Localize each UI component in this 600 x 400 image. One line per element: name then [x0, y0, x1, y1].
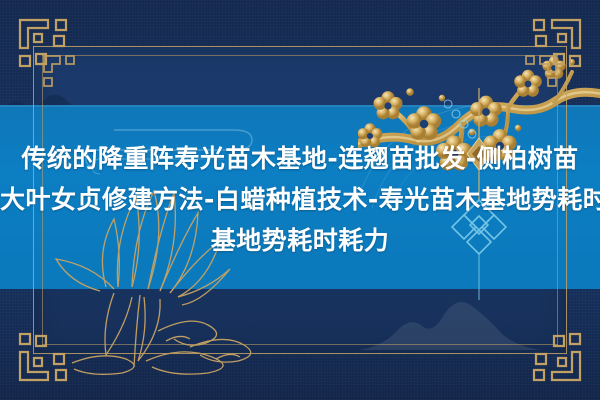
frame-line-bottom — [33, 353, 567, 354]
fret-corner-icon-bottom-left — [14, 314, 86, 386]
fret-inner-motif-top-right — [516, 52, 560, 96]
headline-line-1: 传统的降重阵寿光苗木基地-连翘苗批发-侧柏树苗 — [21, 144, 578, 173]
mountain-silhouette-bottom-right — [360, 272, 540, 352]
frame-line-top-inner — [42, 55, 558, 56]
fret-corner-icon-bottom-right — [514, 314, 586, 386]
banner-headline: 传统的降重阵寿光苗木基地-连翘苗批发-侧柏树苗 大叶女贞修建方法-白蜡种植技术-… — [0, 138, 600, 261]
fret-inner-motif-top-left — [40, 52, 84, 96]
frame-line-top — [33, 46, 567, 47]
headline-line-3: 基地势耗时耗力 — [0, 220, 600, 261]
frame-line-bottom-inner — [42, 344, 558, 345]
headline-line-2: 大叶女贞修建方法-白蜡种植技术-寿光苗木基地势耗时耗力 — [0, 179, 600, 220]
decorative-banner: 传统的降重阵寿光苗木基地-连翘苗批发-侧柏树苗 大叶女贞修建方法-白蜡种植技术-… — [0, 0, 600, 400]
